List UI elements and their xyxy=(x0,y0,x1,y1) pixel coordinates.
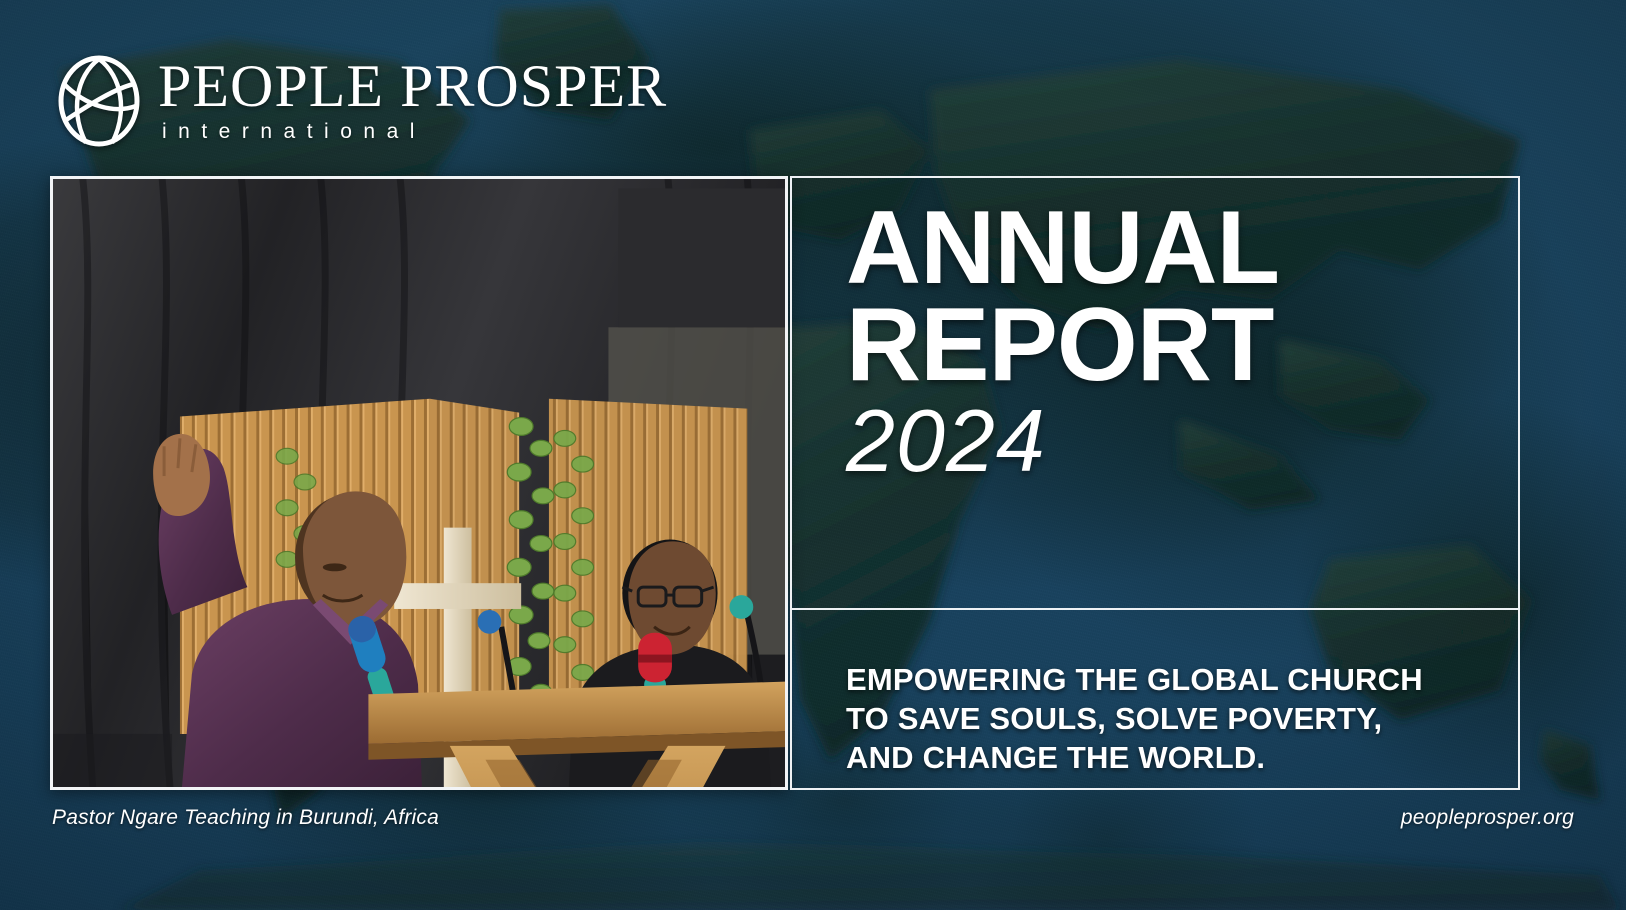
report-tagline-section: EMPOWERING THE GLOBAL CHURCH TO SAVE SOU… xyxy=(792,610,1518,788)
tagline-line-2: TO SAVE SOULS, SOLVE POVERTY, xyxy=(846,699,1502,738)
report-title-line-1: ANNUAL xyxy=(846,200,1508,297)
annual-report-cover: PEOPLE PROSPER international xyxy=(0,0,1626,910)
report-title-stack: ANNUAL REPORT 2024 xyxy=(846,200,1508,485)
report-title-section: ANNUAL REPORT 2024 xyxy=(792,178,1518,610)
mission-tagline: EMPOWERING THE GLOBAL CHURCH TO SAVE SOU… xyxy=(846,660,1502,777)
tagline-line-1: EMPOWERING THE GLOBAL CHURCH xyxy=(846,660,1502,699)
report-year: 2024 xyxy=(846,397,1508,485)
cover-photo-frame xyxy=(50,176,788,790)
cover-photo-illustration xyxy=(53,179,785,787)
tagline-line-3: AND CHANGE THE WORLD. xyxy=(846,738,1502,777)
brand-wordmark: PEOPLE PROSPER international xyxy=(158,58,667,145)
report-title-line-2: REPORT xyxy=(846,297,1508,394)
globe-icon xyxy=(56,54,142,148)
website-url[interactable]: peopleprosper.org xyxy=(1401,806,1574,830)
brand-title: PEOPLE PROSPER xyxy=(158,58,667,116)
brand-subtitle: international xyxy=(162,120,667,144)
brand-logo: PEOPLE PROSPER international xyxy=(56,54,667,148)
report-title-panel: ANNUAL REPORT 2024 EMPOWERING THE GLOBAL… xyxy=(790,176,1520,790)
photo-caption: Pastor Ngare Teaching in Burundi, Africa xyxy=(52,806,439,830)
cover-photo xyxy=(53,179,785,787)
